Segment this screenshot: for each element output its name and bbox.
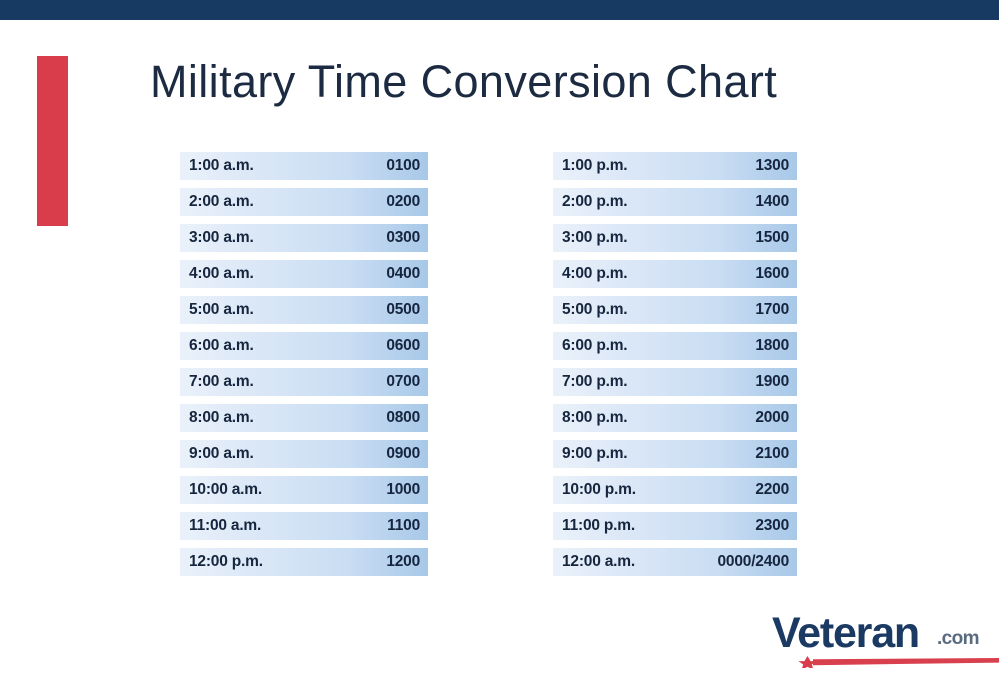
standard-time-label: 2:00 a.m. [189,193,254,211]
military-time-label: 1800 [755,337,789,355]
table-row: 6:00 p.m.1800 [553,332,797,360]
standard-time-label: 7:00 a.m. [189,373,254,391]
military-time-label: 0400 [386,265,420,283]
logo-wordmark: Veteran [772,612,919,655]
table-row: 9:00 a.m.0900 [180,440,428,468]
military-time-label: 0900 [386,445,420,463]
military-time-label: 0500 [386,301,420,319]
standard-time-label: 2:00 p.m. [562,193,627,211]
table-row: 10:00 a.m.1000 [180,476,428,504]
military-time-label: 0000/2400 [718,553,789,571]
military-time-label: 2300 [755,517,789,535]
military-time-label: 1000 [386,481,420,499]
standard-time-label: 8:00 a.m. [189,409,254,427]
military-time-label: 2100 [755,445,789,463]
table-row: 9:00 p.m.2100 [553,440,797,468]
red-accent-bar [37,56,68,226]
standard-time-label: 11:00 a.m. [189,517,261,535]
standard-time-label: 1:00 p.m. [562,157,627,175]
table-row: 5:00 p.m.1700 [553,296,797,324]
military-time-label: 0100 [386,157,420,175]
military-time-label: 2000 [755,409,789,427]
table-row: 2:00 a.m.0200 [180,188,428,216]
pm-column: 1:00 p.m.13002:00 p.m.14003:00 p.m.15004… [553,152,797,584]
standard-time-label: 3:00 a.m. [189,229,254,247]
military-time-label: 0300 [386,229,420,247]
top-header-bar [0,0,999,20]
standard-time-label: 9:00 p.m. [562,445,627,463]
standard-time-label: 1:00 a.m. [189,157,254,175]
standard-time-label: 9:00 a.m. [189,445,254,463]
table-row: 3:00 a.m.0300 [180,224,428,252]
table-row: 4:00 a.m.0400 [180,260,428,288]
military-time-label: 1400 [755,193,789,211]
standard-time-label: 6:00 p.m. [562,337,627,355]
military-time-label: 0800 [386,409,420,427]
standard-time-label: 10:00 a.m. [189,481,262,499]
standard-time-label: 11:00 p.m. [562,517,635,535]
standard-time-label: 8:00 p.m. [562,409,627,427]
standard-time-label: 4:00 a.m. [189,265,254,283]
table-row: 8:00 p.m.2000 [553,404,797,432]
am-column: 1:00 a.m.01002:00 a.m.02003:00 a.m.03004… [180,152,428,584]
military-time-label: 0600 [386,337,420,355]
table-row: 2:00 p.m.1400 [553,188,797,216]
military-time-label: 1600 [755,265,789,283]
logo-tld: .com [937,629,979,648]
military-time-label: 1300 [755,157,789,175]
star-swoosh-icon [793,656,999,668]
page-title: Military Time Conversion Chart [150,52,777,112]
standard-time-label: 10:00 p.m. [562,481,636,499]
table-row: 5:00 a.m.0500 [180,296,428,324]
standard-time-label: 12:00 p.m. [189,553,263,571]
table-row: 10:00 p.m.2200 [553,476,797,504]
military-time-label: 1100 [387,517,420,535]
military-time-label: 1700 [755,301,789,319]
standard-time-label: 6:00 a.m. [189,337,254,355]
military-time-label: 1500 [755,229,789,247]
table-row: 11:00 p.m.2300 [553,512,797,540]
table-row: 1:00 p.m.1300 [553,152,797,180]
standard-time-label: 5:00 p.m. [562,301,627,319]
table-row: 6:00 a.m.0600 [180,332,428,360]
table-row: 1:00 a.m.0100 [180,152,428,180]
standard-time-label: 5:00 a.m. [189,301,254,319]
veteran-com-logo[interactable]: Veteran .com [772,612,999,670]
table-row: 8:00 a.m.0800 [180,404,428,432]
standard-time-label: 3:00 p.m. [562,229,627,247]
table-row: 7:00 p.m.1900 [553,368,797,396]
standard-time-label: 4:00 p.m. [562,265,627,283]
military-time-label: 2200 [755,481,789,499]
military-time-label: 0700 [386,373,420,391]
table-row: 4:00 p.m.1600 [553,260,797,288]
table-row: 7:00 a.m.0700 [180,368,428,396]
military-time-label: 1200 [386,553,420,571]
table-row: 12:00 a.m.0000/2400 [553,548,797,576]
table-row: 11:00 a.m.1100 [180,512,428,540]
table-row: 12:00 p.m.1200 [180,548,428,576]
standard-time-label: 7:00 p.m. [562,373,627,391]
military-time-label: 1900 [755,373,789,391]
table-row: 3:00 p.m.1500 [553,224,797,252]
standard-time-label: 12:00 a.m. [562,553,635,571]
military-time-label: 0200 [386,193,420,211]
